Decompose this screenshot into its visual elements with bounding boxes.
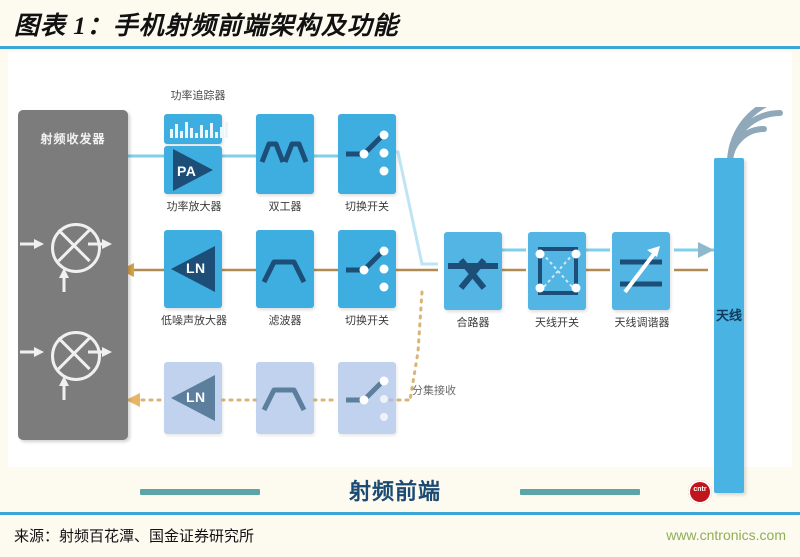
diversity-lna-block[interactable]: LN: [164, 362, 222, 434]
combiner-block[interactable]: [444, 232, 502, 310]
combiner-icon: [452, 250, 494, 292]
antenna-tuner-icon: [617, 244, 667, 298]
website-text[interactable]: www.cntronics.com: [666, 527, 786, 543]
caption-band: 射频前端 cntr: [0, 472, 800, 512]
duplexer-icon: [262, 136, 308, 170]
figure-page: 图表 1：手机射频前端架构及功能: [0, 0, 800, 557]
page-title: 图表 1：手机射频前端架构及功能: [14, 6, 399, 42]
ln-glyph-text: LN: [186, 260, 206, 276]
power-tracker-label: 功率追踪器: [158, 87, 238, 103]
antenna-switch-block[interactable]: [528, 232, 586, 310]
antenna-switch-label: 天线开关: [528, 314, 586, 330]
power-amplifier-label: 功率放大器: [154, 198, 234, 214]
tx-switch-block[interactable]: [338, 114, 396, 194]
figure-header: 图表 1：手机射频前端架构及功能: [0, 0, 800, 46]
ln-glyph-text: LN: [186, 389, 206, 405]
filter-block[interactable]: [256, 230, 314, 308]
switch-icon: [344, 128, 392, 180]
antenna-label: 天线: [714, 308, 744, 323]
power-amplifier-block[interactable]: PA: [164, 146, 222, 194]
diversity-label: 分集接收: [412, 382, 492, 398]
rx-switch-label: 切换开关: [338, 312, 396, 328]
antenna-block[interactable]: 天线: [714, 158, 744, 493]
switch-icon: [344, 374, 392, 426]
cntronics-logo-icon: cntr: [688, 480, 712, 504]
rf-transceiver-block[interactable]: 射频收发器: [18, 110, 128, 440]
mixer-icon: [42, 222, 104, 284]
switch-icon: [344, 244, 392, 296]
filter-icon: [264, 384, 306, 414]
caption-bar-left: [140, 489, 260, 495]
filter-icon: [264, 256, 306, 286]
antenna-tuner-block[interactable]: [612, 232, 670, 310]
logo-text: cntr: [688, 486, 712, 493]
bar-chart-icon: [170, 120, 228, 138]
lna-block[interactable]: LN: [164, 230, 222, 308]
rf-transceiver-label: 射频收发器: [18, 130, 128, 147]
figure-footer: 来源：射频百花潭、国金证券研究所 www.cntronics.com: [0, 515, 800, 557]
diversity-filter-block[interactable]: [256, 362, 314, 434]
combiner-label: 合路器: [444, 314, 502, 330]
lna-label: 低噪声放大器: [148, 312, 240, 328]
power-tracker-block[interactable]: [164, 114, 222, 144]
tx-switch-label: 切换开关: [338, 198, 396, 214]
antenna-switch-icon: [535, 244, 581, 298]
duplexer-label: 双工器: [256, 198, 314, 214]
rx-switch-block[interactable]: [338, 230, 396, 308]
duplexer-block[interactable]: [256, 114, 314, 194]
antenna-tuner-label: 天线调谐器: [606, 314, 678, 330]
caption-text: 射频前端: [280, 474, 510, 506]
diagram-canvas: 射频收发器: [8, 52, 792, 467]
diversity-switch-block[interactable]: [338, 362, 396, 434]
header-divider: [0, 46, 800, 49]
pa-glyph-text: PA: [177, 163, 196, 179]
mixer-icon: [42, 330, 104, 392]
caption-bar-right: [520, 489, 640, 495]
source-text: 来源：射频百花潭、国金证券研究所: [14, 525, 254, 546]
filter-label: 滤波器: [256, 312, 314, 328]
